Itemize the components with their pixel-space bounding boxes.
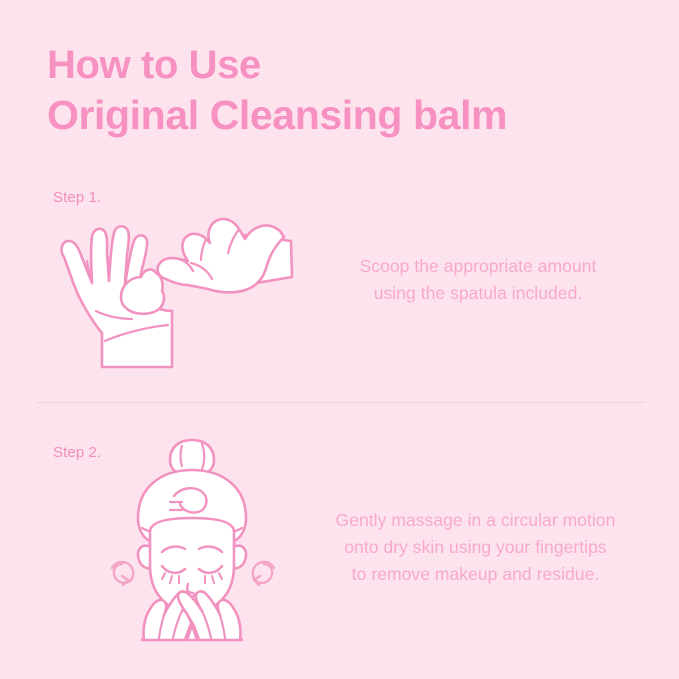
step-2-text-line-3: to remove makeup and residue. [298,561,653,588]
how-to-use-infographic: How to Use Original Cleansing balm Step … [0,0,679,679]
step-1-description: Scoop the appropriate amount using the s… [318,253,638,307]
step-1-text-line-2: using the spatula included. [318,280,638,307]
hands-scooping-balm-illustration [48,193,298,373]
title-line-1: How to Use [47,40,647,90]
step-2-text-line-2: onto dry skin using your fingertips [298,534,653,561]
woman-massaging-face-illustration [108,436,278,641]
step-1-text-line-1: Scoop the appropriate amount [318,253,638,280]
section-divider [36,402,645,403]
step-2-row: Step 2. [0,430,679,645]
step-2-label: Step 2. [53,444,101,461]
circular-motion-swirl-left [112,562,133,585]
page-title: How to Use Original Cleansing balm [47,40,647,140]
step-2-text-line-1: Gently massage in a circular motion [298,507,653,534]
step-1-row: Step 1. [0,175,679,390]
circular-motion-swirl-right [253,562,274,585]
title-line-2: Original Cleansing balm [47,90,647,140]
step-2-description: Gently massage in a circular motion onto… [298,507,653,588]
